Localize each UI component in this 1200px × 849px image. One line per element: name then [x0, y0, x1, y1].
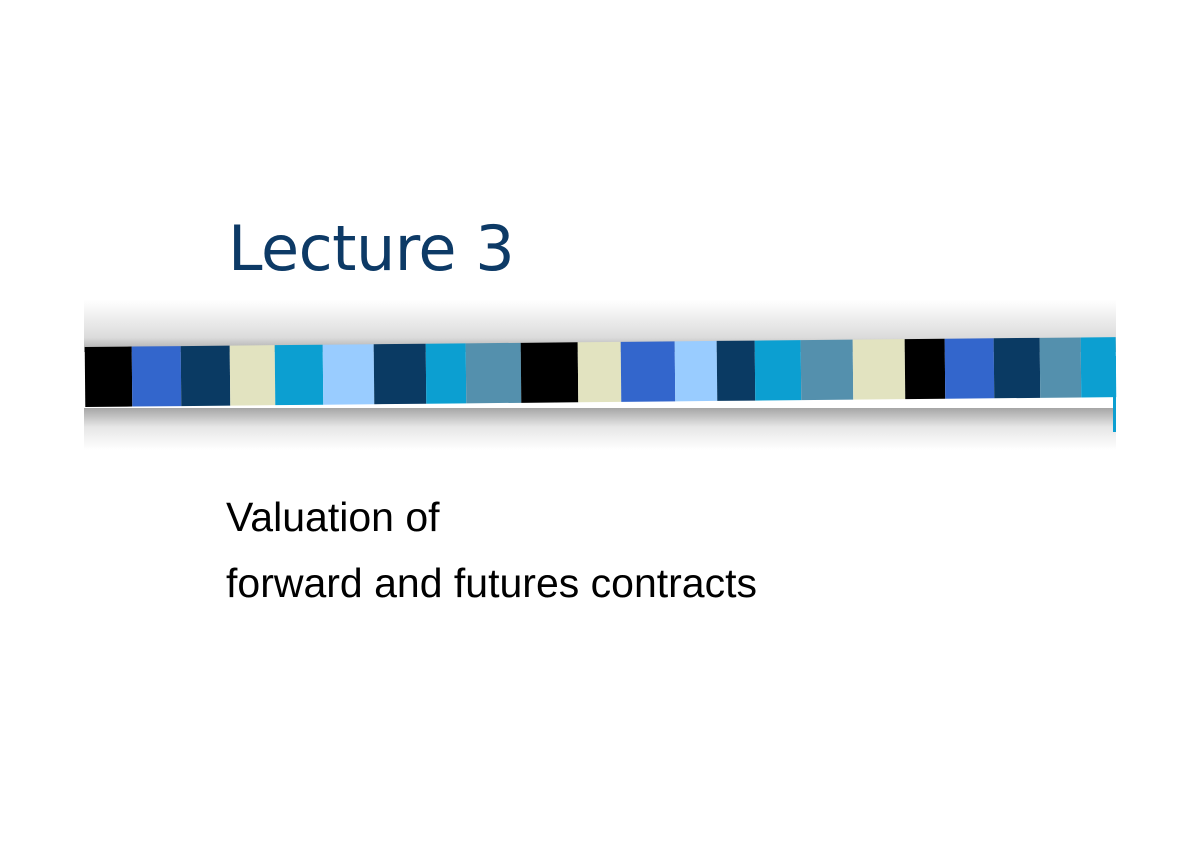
band-segment-4	[275, 345, 324, 405]
band-segment-3	[230, 345, 276, 405]
band-segment-7	[426, 343, 467, 403]
band-segment-18	[945, 338, 995, 398]
slide-subtitle: Valuation offorward and futures contract…	[226, 484, 1046, 617]
band-segment-1	[132, 346, 182, 406]
band-segment-10	[578, 342, 622, 402]
band-segment-15	[801, 340, 854, 400]
title-slide: Lecture 3 Valuation offorward and future…	[0, 0, 1200, 849]
slide-subtitle-line-1: forward and futures contracts	[226, 550, 1046, 616]
band-segment-12	[675, 341, 718, 401]
band-segment-17	[905, 339, 946, 399]
band-segment-20	[1040, 337, 1082, 397]
band-segment-11	[621, 341, 676, 402]
band-segment-6	[374, 344, 427, 404]
band-segment-8	[466, 343, 522, 404]
band-segment-2	[181, 346, 231, 406]
band-segment-strip	[85, 337, 1117, 407]
band-segment-5	[323, 344, 375, 404]
band-segment-19	[994, 338, 1041, 398]
band-segment-14	[755, 340, 802, 400]
band-shadow-bottom	[84, 408, 1116, 450]
slide-subtitle-line-0: Valuation of	[226, 484, 1046, 550]
band-segment-16	[853, 339, 906, 399]
decorative-band	[0, 300, 1200, 450]
band-segment-0	[85, 347, 133, 407]
band-segment-21	[1081, 337, 1117, 397]
band-tail-line	[1113, 356, 1116, 432]
band-segment-9	[521, 342, 579, 403]
slide-title: Lecture 3	[228, 216, 988, 281]
band-segment-13	[717, 341, 756, 401]
